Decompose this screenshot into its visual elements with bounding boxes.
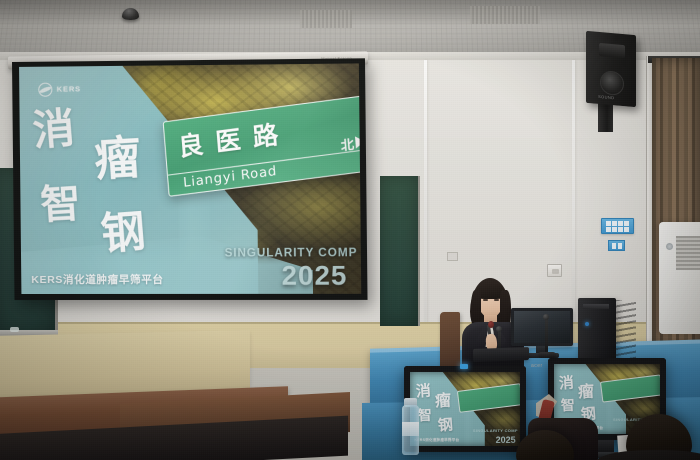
wall-notice-sign-small	[608, 240, 625, 251]
presenter-chair	[440, 312, 460, 368]
speaker-tweeter	[599, 43, 625, 58]
right-arrow-icon	[355, 136, 361, 149]
slide-calligraphy-char: 瘤	[93, 135, 142, 184]
monitor-brand-label: acer	[531, 363, 543, 369]
street-sign-chinese: 良医路	[177, 113, 292, 164]
mini-slide-event: SINGULARITY COMP	[473, 428, 518, 433]
slide-calligraphy-char: 钢	[100, 210, 148, 257]
mini-calligraphy-char: 智	[561, 400, 576, 415]
projection-screen: KERS 消 瘤 智 钢 良医路 Liangyi Road 北 SINGULAR…	[12, 58, 368, 300]
speaker-woofer	[600, 70, 624, 96]
bottle-label	[402, 422, 419, 436]
mini-calligraphy-char: 消	[559, 376, 575, 392]
chalk-piece	[10, 327, 19, 332]
keyboard	[473, 347, 529, 362]
monitor-screen	[511, 308, 573, 346]
slide-event-name: SINGULARITY COMP	[225, 247, 358, 259]
mini-calligraphy-char: 钢	[437, 418, 453, 434]
cable-bundle	[612, 300, 636, 358]
wall-seam	[424, 60, 427, 360]
mini-slide-tagline: KERS消化道肿瘤早筛平台	[414, 438, 459, 443]
desk-microphone-head	[496, 326, 502, 332]
street-sign-direction: 北	[340, 132, 361, 154]
presenter-eye	[494, 299, 499, 301]
power-led-icon	[585, 322, 589, 326]
wall-speaker: SOUND	[586, 31, 636, 107]
mini-slide-year: 2025	[496, 435, 516, 445]
monitor-power-led-icon	[460, 364, 468, 369]
ac-grille	[676, 236, 700, 270]
slide-surface: KERS 消 瘤 智 钢 良医路 Liangyi Road 北 SINGULAR…	[19, 63, 361, 294]
ac-indicator	[666, 243, 673, 250]
slide-logo-text: KERS	[57, 85, 81, 94]
mini-calligraphy-char: 消	[415, 385, 431, 401]
lecture-hall-photo: SOUND Manual Screen KERS 消 瘤 智 钢	[0, 0, 700, 460]
ceiling-vent	[470, 6, 540, 24]
mini-calligraphy-char: 瘤	[578, 385, 595, 402]
monitor-stand	[598, 440, 614, 452]
street-sign-direction-label: 北	[340, 134, 355, 155]
desk-microphone-head	[543, 314, 549, 320]
blackboard-right	[380, 176, 420, 326]
speaker-brand-label: SOUND	[598, 94, 614, 100]
desk-microphone	[545, 318, 548, 354]
microphone-head	[488, 321, 494, 328]
wall-plate	[447, 252, 458, 261]
presenter-eye	[483, 299, 488, 301]
slide-event-year: 2025	[281, 260, 347, 291]
audience-monitor-left: 消 瘤 智 钢 KERS消化道肿瘤早筛平台 SINGULARITY COMP 2…	[404, 366, 526, 452]
slide-tagline: KERS消化道肿瘤早筛平台	[31, 272, 163, 287]
slide-logo: KERS	[38, 74, 143, 105]
mini-calligraphy-char: 智	[417, 410, 432, 425]
ceiling-vent	[300, 10, 352, 28]
slide-calligraphy-char: 消	[31, 108, 76, 153]
dome-camera-icon	[122, 8, 139, 20]
wall-notice-sign	[601, 218, 634, 234]
slide-calligraphy-char: 智	[39, 184, 82, 226]
circular-emblem-icon	[38, 81, 54, 97]
pc-tower	[578, 298, 616, 360]
mini-calligraphy-char: 瘤	[435, 394, 452, 411]
optical-drive-bay	[583, 304, 609, 309]
power-outlet	[547, 264, 562, 277]
audience-monitor-left-screen: 消 瘤 智 钢 KERS消化道肿瘤早筛平台 SINGULARITY COMP 2…	[410, 372, 520, 446]
